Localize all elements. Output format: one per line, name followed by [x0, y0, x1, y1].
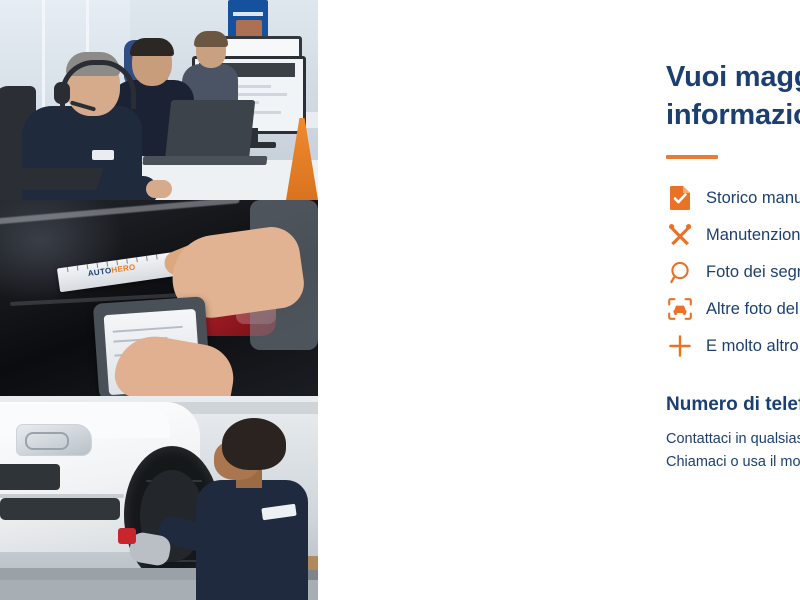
headlight [16, 424, 92, 456]
contact-line-1: Contattaci in qualsiasi momento per ulte… [666, 428, 800, 451]
feature-item-altre-foto: Altre foto del veicolo [664, 291, 800, 327]
magnifier-icon [664, 257, 696, 287]
feature-label: Altre foto del veicolo [706, 300, 800, 319]
feature-list: Storico manutentivo Manutenzioni effettu… [664, 180, 800, 365]
tools-icon [664, 220, 696, 250]
contact-text: Contattaci in qualsiasi momento per ulte… [666, 428, 800, 474]
feature-item-altro: E molto altro ancora [664, 328, 800, 364]
workshop-wheel-check-photo [0, 396, 318, 600]
feature-item-foto-usura: Foto dei segni di usura [664, 254, 800, 290]
call-center-agents-photo [0, 0, 318, 200]
promo-content: Vuoi maggiori informazioni su ? Saremo f… [318, 0, 800, 600]
laptop [165, 100, 256, 162]
photo-strip: AUTOHERO [0, 0, 318, 600]
headline-line-1: Vuoi maggiori [666, 61, 800, 93]
contact-line-2: Chiamaci o usa il modulo di contatto. [666, 451, 800, 474]
title-underline [666, 155, 718, 159]
headline-line-2: informazioni su ? [666, 96, 800, 134]
page-title: Vuoi maggiori informazioni su ? [666, 58, 800, 135]
hand-tool [118, 528, 136, 544]
plus-icon [664, 331, 696, 361]
car-scan-icon [664, 294, 696, 324]
feature-label: Foto dei segni di usura [706, 263, 800, 282]
promo-banner: AUTOHERO [0, 0, 800, 600]
phone-number[interactable]: Numero di telefono: +390238583850 [666, 394, 800, 416]
feature-label: Storico manutentivo [706, 189, 800, 208]
lift-arm [0, 568, 200, 580]
feature-label: E molto altro ancora [706, 337, 800, 356]
document-check-icon [664, 183, 696, 213]
technician [196, 418, 308, 600]
feature-label: Manutenzioni effettuate [706, 226, 800, 245]
feature-item-manutenzioni: Manutenzioni effettuate [664, 217, 800, 253]
vehicle-inspection-ruler-photo: AUTOHERO [0, 200, 318, 396]
feature-item-storico: Storico manutentivo [664, 180, 800, 216]
